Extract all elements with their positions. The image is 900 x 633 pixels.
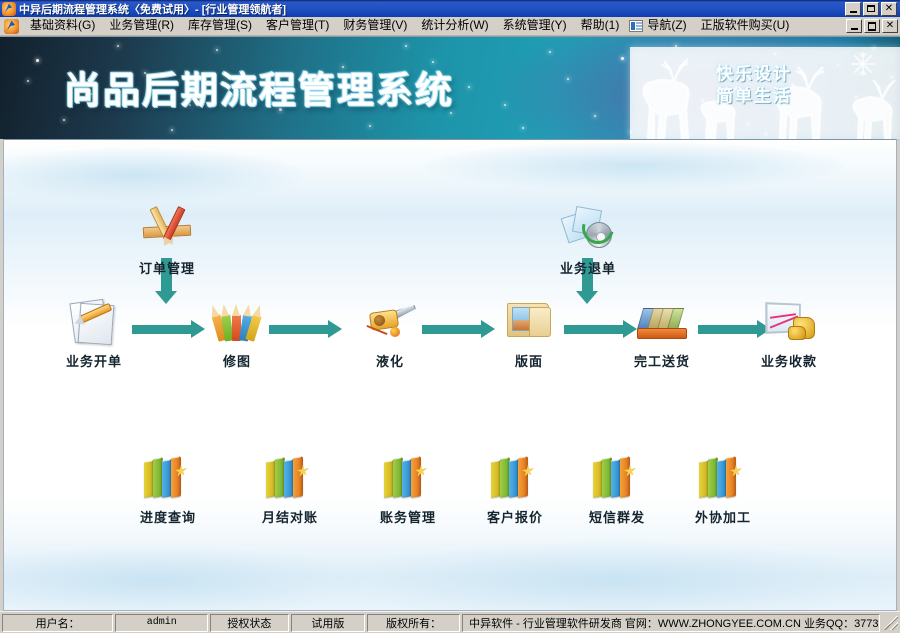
application-window: 中异后期流程管理系统〈免费试用〉- [行业管理领航者] ✕ 基础资料(G) 业务… <box>0 0 900 633</box>
books-icon <box>695 451 751 503</box>
node-retouch-label: 修图 <box>191 351 283 370</box>
status-user-label: 用户名： <box>2 614 113 632</box>
node-liquify[interactable]: 液化 <box>344 295 436 370</box>
node-customer-quote[interactable]: 客户报价 <box>469 448 561 526</box>
node-account-management[interactable]: 账务管理 <box>362 448 454 526</box>
node-monthly-reconcile[interactable]: 月结对账 <box>244 448 336 526</box>
books-icon <box>140 451 196 503</box>
node-progress-query[interactable]: 进度查询 <box>122 448 214 526</box>
status-license-label: 授权状态 <box>210 614 288 632</box>
star-dot <box>522 127 524 129</box>
mdi-child-icon[interactable] <box>4 19 19 34</box>
books-icon <box>262 451 318 503</box>
window-controls-inner: ✕ <box>846 19 898 33</box>
menu-navigation[interactable]: 导航(Z) <box>626 17 693 35</box>
node-order-management[interactable]: 订单管理 <box>121 202 213 277</box>
node-billing-label: 业务开单 <box>48 351 140 370</box>
star-dot <box>171 129 173 131</box>
retouch-icon <box>209 295 265 347</box>
node-outsourced-processing[interactable]: 外协加工 <box>677 448 769 526</box>
status-copyright-label: 版权所有： <box>367 614 460 632</box>
node-return-order-label: 业务退单 <box>542 258 634 277</box>
node-account-management-label: 账务管理 <box>362 507 454 526</box>
star-dot <box>369 125 371 127</box>
resize-grip[interactable] <box>884 616 898 630</box>
node-sms-broadcast[interactable]: 短信群发 <box>571 448 663 526</box>
node-delivery[interactable]: 完工送货 <box>616 295 708 370</box>
child-restore-button[interactable] <box>864 19 880 33</box>
node-customer-quote-label: 客户报价 <box>469 507 561 526</box>
menu-business[interactable]: 业务管理(R) <box>102 17 181 35</box>
close-button[interactable]: ✕ <box>881 2 897 16</box>
status-copyright-value: 中异软件 - 行业管理软件研发商 官网：WWW.ZHONGYEE.COM.CN … <box>462 614 880 632</box>
navigation-icon <box>629 20 643 32</box>
maximize-button[interactable] <box>863 2 879 16</box>
star-dot <box>27 80 29 82</box>
menu-inventory[interactable]: 库存管理(S) <box>181 17 259 35</box>
banner-slogan-line1: 快乐设计 <box>716 63 792 85</box>
node-cashier-label: 业务收款 <box>743 351 835 370</box>
star-dot <box>36 59 39 62</box>
liquify-icon <box>362 295 418 347</box>
node-order-management-label: 订单管理 <box>121 258 213 277</box>
child-minimize-button[interactable] <box>846 19 862 33</box>
banner-title: 尚品后期流程管理系统 <box>64 60 454 114</box>
star-dot <box>468 86 470 88</box>
menu-basic-data[interactable]: 基础资料(G) <box>23 17 102 35</box>
client-area: 订单管理 业务退单 <box>0 139 900 611</box>
snowflake-icon <box>850 51 876 77</box>
star-dot <box>567 78 569 80</box>
status-license-value: 试用版 <box>291 614 366 632</box>
delivery-icon <box>634 295 690 347</box>
status-user-value: admin <box>115 614 208 632</box>
arrow-billing-to-retouch <box>132 325 192 334</box>
star-dot <box>594 115 596 117</box>
node-monthly-reconcile-label: 月结对账 <box>244 507 336 526</box>
window-controls-outer: ✕ <box>845 2 899 16</box>
node-return-order[interactable]: 业务退单 <box>542 202 634 277</box>
node-retouch[interactable]: 修图 <box>191 295 283 370</box>
node-outsourced-processing-label: 外协加工 <box>677 507 769 526</box>
status-bar: 用户名： admin 授权状态 试用版 版权所有： 中异软件 - 行业管理软件研… <box>0 611 900 633</box>
window-title: 中异后期流程管理系统〈免费试用〉- [行业管理领航者] <box>19 1 286 17</box>
star-dot <box>549 51 551 53</box>
child-close-button[interactable]: ✕ <box>882 19 898 33</box>
node-cashier[interactable]: 业务收款 <box>743 295 835 370</box>
menu-customer[interactable]: 客户管理(T) <box>259 17 336 35</box>
return-order-icon <box>560 202 616 254</box>
billing-icon <box>66 295 122 347</box>
banner-slogan-line2: 简单生活 <box>716 85 792 107</box>
books-icon <box>487 451 543 503</box>
star-dot <box>405 45 407 47</box>
node-sms-broadcast-label: 短信群发 <box>571 507 663 526</box>
menu-purchase[interactable]: 正版软件购买(U) <box>694 17 797 35</box>
order-management-icon <box>139 202 195 254</box>
star-dot <box>63 119 65 121</box>
books-icon <box>589 451 645 503</box>
banner-slogan: 快乐设计 简单生活 <box>716 63 792 107</box>
app-logo-icon <box>2 2 16 16</box>
node-layout[interactable]: 版面 <box>483 295 575 370</box>
menu-finance[interactable]: 财务管理(V) <box>336 17 414 35</box>
node-delivery-label: 完工送货 <box>616 351 708 370</box>
books-icon <box>380 451 436 503</box>
process-flow-diagram: 订单管理 业务退单 <box>4 140 896 610</box>
menu-bar: 基础资料(G) 业务管理(R) 库存管理(S) 客户管理(T) 财务管理(V) … <box>0 17 900 36</box>
star-dot <box>621 57 624 60</box>
star-dot <box>216 49 218 51</box>
menu-system[interactable]: 系统管理(Y) <box>496 17 574 35</box>
menu-statistics[interactable]: 统计分析(W) <box>414 17 495 35</box>
cashier-icon <box>761 295 817 347</box>
layout-icon <box>501 295 557 347</box>
node-progress-query-label: 进度查询 <box>122 507 214 526</box>
star-dot <box>504 104 506 106</box>
navigation-page: 订单管理 业务退单 <box>3 139 897 611</box>
node-billing[interactable]: 业务开单 <box>48 295 140 370</box>
star-dot <box>117 45 119 47</box>
node-liquify-label: 液化 <box>344 351 436 370</box>
title-bar: 中异后期流程管理系统〈免费试用〉- [行业管理领航者] ✕ <box>0 0 900 17</box>
node-layout-label: 版面 <box>483 351 575 370</box>
menu-help[interactable]: 帮助(1) <box>574 17 627 35</box>
banner: 尚品后期流程管理系统 快乐设计 简单生活 <box>0 36 900 139</box>
menu-navigation-label: 导航(Z) <box>647 19 686 32</box>
minimize-button[interactable] <box>845 2 861 16</box>
